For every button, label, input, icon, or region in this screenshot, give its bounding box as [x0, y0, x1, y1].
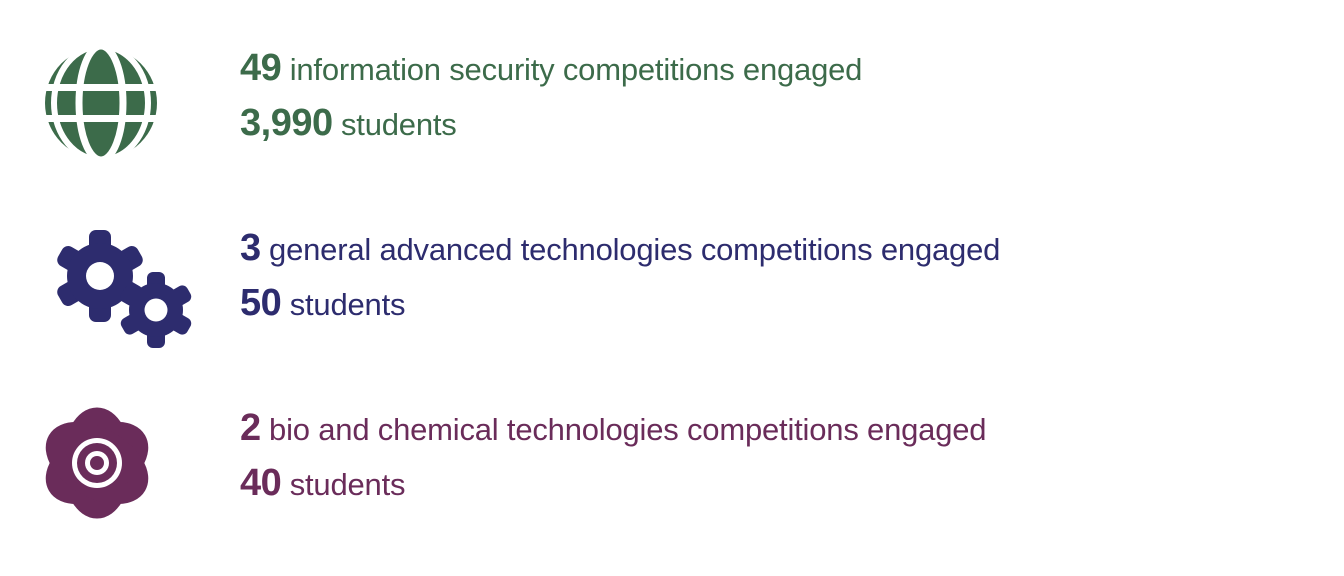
atom-icon-cell — [0, 390, 200, 536]
stat-line-primary: 3 general advanced technologies competit… — [240, 224, 1000, 273]
stat-label: general advanced technologies competitio… — [261, 232, 1001, 267]
stat-number: 49 — [240, 47, 281, 89]
globe-icon-cell — [0, 30, 200, 176]
stat-text-cell: 2 bio and chemical technologies competit… — [200, 390, 986, 509]
stat-line-primary: 49 information security competitions eng… — [240, 44, 862, 93]
gears-icon-cell — [0, 210, 200, 356]
infographic-container: 49 information security competitions eng… — [0, 0, 1344, 576]
stat-number: 40 — [240, 462, 281, 504]
stat-line-secondary: 40 students — [240, 459, 986, 508]
stat-label: information security competitions engage… — [281, 52, 862, 87]
atom-icon — [45, 406, 149, 520]
stat-number: 50 — [240, 282, 281, 324]
stat-label: students — [281, 467, 405, 502]
stat-row: 49 information security competitions eng… — [0, 30, 1344, 176]
stat-text-cell: 3 general advanced technologies competit… — [200, 210, 1000, 329]
stat-line-secondary: 50 students — [240, 279, 1000, 328]
stat-row: 2 bio and chemical technologies competit… — [0, 390, 1344, 536]
gears-icon — [45, 218, 195, 348]
globe-icon — [45, 45, 157, 161]
stat-row: 3 general advanced technologies competit… — [0, 210, 1344, 356]
stat-number: 2 — [240, 407, 261, 449]
stat-label: students — [333, 107, 457, 142]
stat-line-primary: 2 bio and chemical technologies competit… — [240, 404, 986, 453]
stat-number: 3 — [240, 227, 261, 269]
stat-label: students — [281, 287, 405, 322]
stat-text-cell: 49 information security competitions eng… — [200, 30, 862, 149]
stat-number: 3,990 — [240, 102, 333, 144]
stat-line-secondary: 3,990 students — [240, 99, 862, 148]
stat-label: bio and chemical technologies competitio… — [261, 412, 987, 447]
